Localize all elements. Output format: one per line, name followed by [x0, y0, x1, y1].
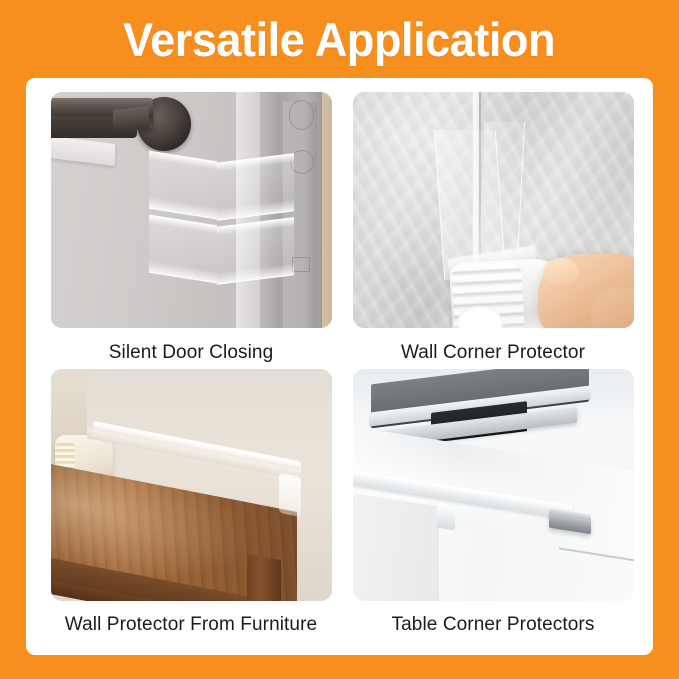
lock-oval-button-icon	[289, 100, 314, 130]
photo-wall-corner-protector	[353, 92, 634, 328]
door-handle-tip-shape	[113, 106, 149, 132]
cabinet-side-shape	[353, 491, 439, 601]
table-leg-shape	[247, 553, 281, 600]
corner-protector-end-shape	[437, 503, 455, 530]
corner-protector-strip	[217, 153, 294, 220]
thumbnail-shape	[543, 258, 579, 286]
lock-plate-shape	[283, 102, 317, 328]
feature-caption: Wall Corner Protector	[401, 328, 585, 364]
page-title: Versatile Application	[123, 16, 555, 63]
corner-protector-strip	[149, 215, 217, 284]
feature-cell-wall-corner-protector: Wall Corner Protector	[348, 92, 638, 369]
header-bar: Versatile Application	[0, 0, 679, 78]
content-panel: Silent Door Closing Wall Corner Protecto…	[26, 78, 653, 655]
feature-caption: Silent Door Closing	[109, 328, 274, 364]
photo-silent-door-closing	[51, 92, 332, 328]
lock-square-button-icon	[292, 257, 310, 272]
feature-caption: Table Corner Protectors	[392, 601, 595, 636]
edge-protector-end-cap	[279, 472, 301, 516]
feature-cell-table-corner-protectors: Table Corner Protectors	[348, 369, 638, 646]
feature-cell-wall-protector-from-furniture: Wall Protector From Furniture	[46, 369, 336, 646]
corner-protector-strip	[149, 151, 217, 220]
feature-cell-silent-door-closing: Silent Door Closing	[46, 92, 336, 369]
photo-wall-protector-from-furniture	[51, 369, 332, 601]
feature-caption: Wall Protector From Furniture	[65, 601, 317, 636]
photo-table-corner-protectors	[353, 369, 634, 601]
corner-protector-strip	[217, 217, 294, 284]
